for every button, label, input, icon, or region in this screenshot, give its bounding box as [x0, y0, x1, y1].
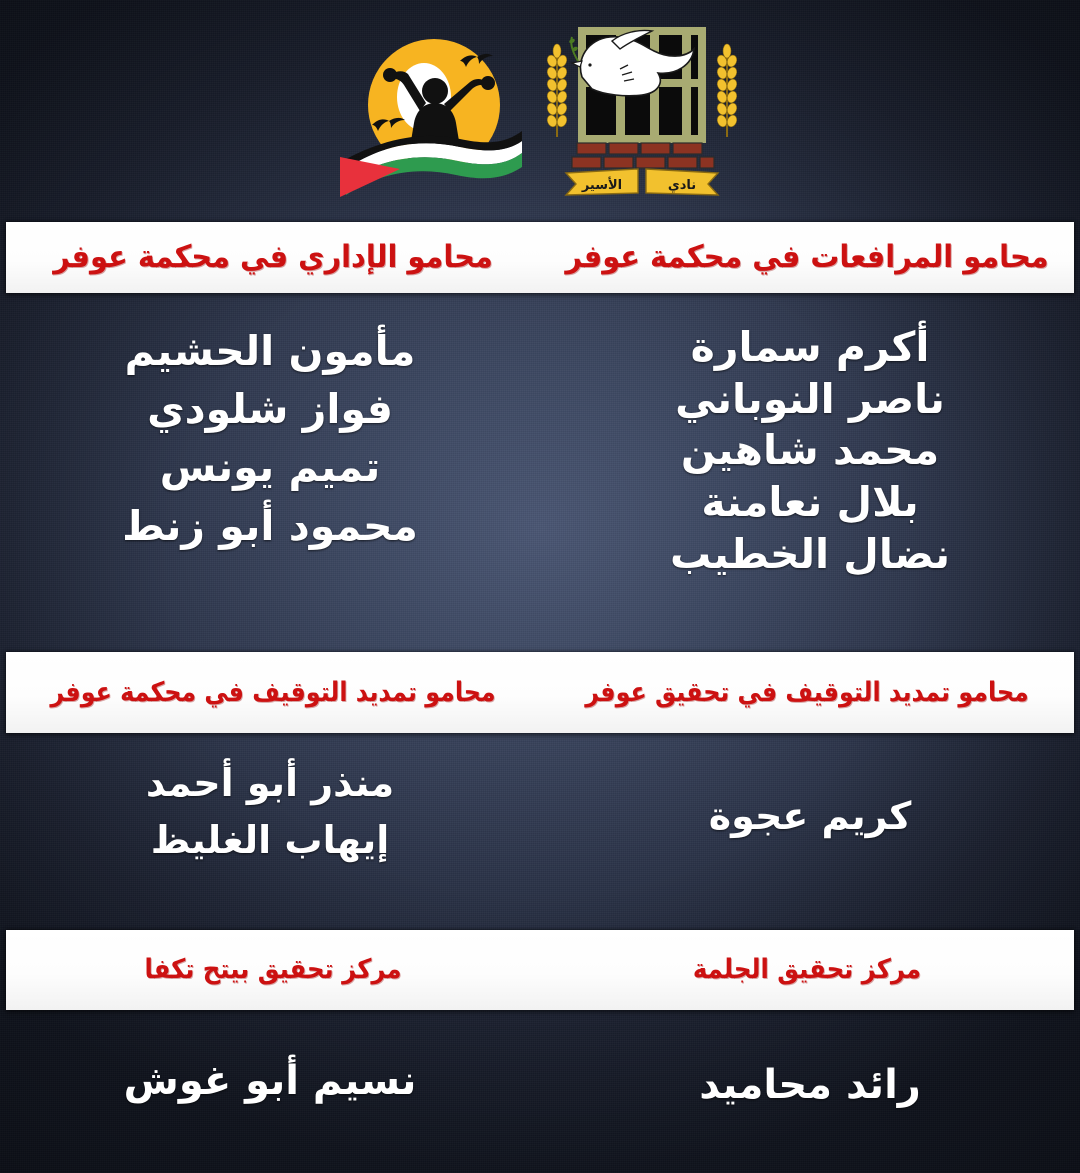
lawyer-name: مأمون الحشيم — [125, 322, 416, 380]
ribbon-text-left: الأسير — [581, 176, 622, 193]
section-1-right-column: مأمون الحشيم فواز شلودي تميم يونس محمود … — [0, 300, 540, 645]
palestinian-prisoners-club-logo: الأسير نادي — [542, 17, 742, 206]
palestinian-flag — [340, 131, 522, 197]
section-3-names: رائد محاميد نسيم أبو غوش — [0, 1040, 1080, 1150]
lawyer-name: أكرم سمارة — [691, 322, 930, 374]
lawyer-name: تميم يونس — [160, 438, 381, 496]
lawyer-name: إيهاب الغليظ — [151, 812, 390, 869]
section-2-right-column: منذر أبو أحمد إيهاب الغليظ — [0, 745, 540, 920]
crest-ribbon: الأسير نادي — [566, 169, 718, 195]
section-2-left-column: كريم عجوة — [540, 745, 1080, 920]
poster-canvas: الأسير نادي مؤسسة الضمير لرعاية الأسير — [0, 0, 1080, 1173]
lawyer-name: بلال نعامنة — [701, 477, 918, 529]
lawyer-name: محمد شاهين — [681, 425, 939, 477]
logo-header: الأسير نادي مؤسسة الضمير لرعاية الأسير — [0, 0, 1080, 222]
lawyer-name: نسيم أبو غوش — [124, 1056, 417, 1106]
lawyer-name: كريم عجوة — [709, 793, 912, 841]
section-2-header-band: محامو تمديد التوقيف في تحقيق عوفر محامو … — [6, 652, 1074, 733]
section-2-names: كريم عجوة منذر أبو أحمد إيهاب الغليظ — [0, 745, 1080, 920]
section-3-title-right: مركز تحقيق بيتح تكفا — [33, 955, 514, 985]
lawyer-name: محمود أبو زنط — [122, 497, 418, 555]
section-3-right-column: نسيم أبو غوش — [0, 1040, 540, 1150]
section-3-header-band: مركز تحقيق الجلمة مركز تحقيق بيتح تكفا — [6, 930, 1074, 1010]
section-1-names: أكرم سمارة ناصر النوباني محمد شاهين بلال… — [0, 300, 1080, 645]
lawyer-name: نضال الخطيب — [670, 529, 950, 581]
section-3-left-column: رائد محاميد — [540, 1040, 1080, 1150]
section-2-title-right: محامو تمديد التوقيف في محكمة عوفر — [38, 678, 508, 708]
lawyer-name: ناصر النوباني — [675, 374, 945, 426]
section-1-title-right: محامو الإداري في محكمة عوفر — [25, 240, 522, 274]
section-2-title-left: محامو تمديد التوقيف في تحقيق عوفر — [572, 678, 1042, 708]
section-1-header-band: محامو المرافعات في محكمة عوفر محامو الإد… — [6, 222, 1074, 293]
ribbon-text-right: نادي — [668, 178, 696, 193]
section-3-title-left: مركز تحقيق الجلمة — [567, 955, 1048, 985]
section-1-left-column: أكرم سمارة ناصر النوباني محمد شاهين بلال… — [540, 300, 1080, 645]
sun-freedom-flag-logo: مؤسسة الضمير لرعاية الأسير — [338, 19, 528, 203]
lawyer-name: منذر أبو أحمد — [146, 755, 394, 812]
lawyer-name: فواز شلودي — [147, 380, 393, 438]
section-1-title-left: محامو المرافعات في محكمة عوفر — [559, 240, 1056, 274]
arc-text: مؤسسة الضمير لرعاية الأسير — [338, 19, 369, 104]
lawyer-name: رائد محاميد — [699, 1060, 921, 1110]
brick-wall — [572, 143, 714, 168]
